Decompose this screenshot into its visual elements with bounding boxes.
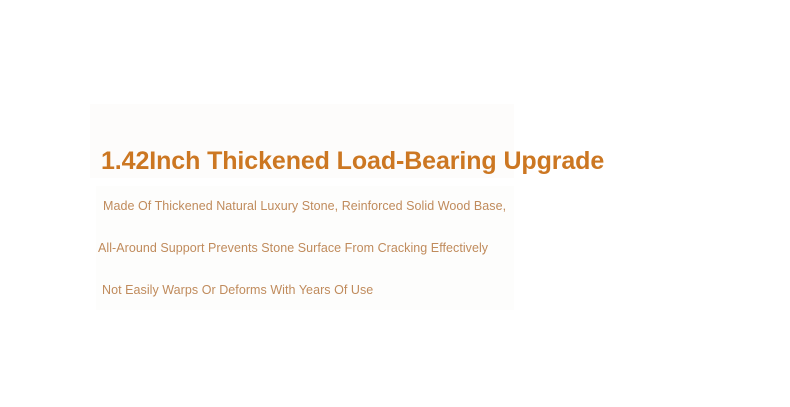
page-canvas: 1.42Inch Thickened Load-Bearing Upgrade … [0, 0, 790, 407]
list-item: Made Of Thickened Natural Luxury Stone, … [103, 198, 506, 215]
list-item: All-Around Support Prevents Stone Surfac… [98, 240, 488, 257]
product-feature-block: 1.42Inch Thickened Load-Bearing Upgrade … [0, 0, 790, 407]
list-item: Not Easily Warps Or Deforms With Years O… [102, 282, 373, 299]
page-title: 1.42Inch Thickened Load-Bearing Upgrade [101, 146, 604, 176]
